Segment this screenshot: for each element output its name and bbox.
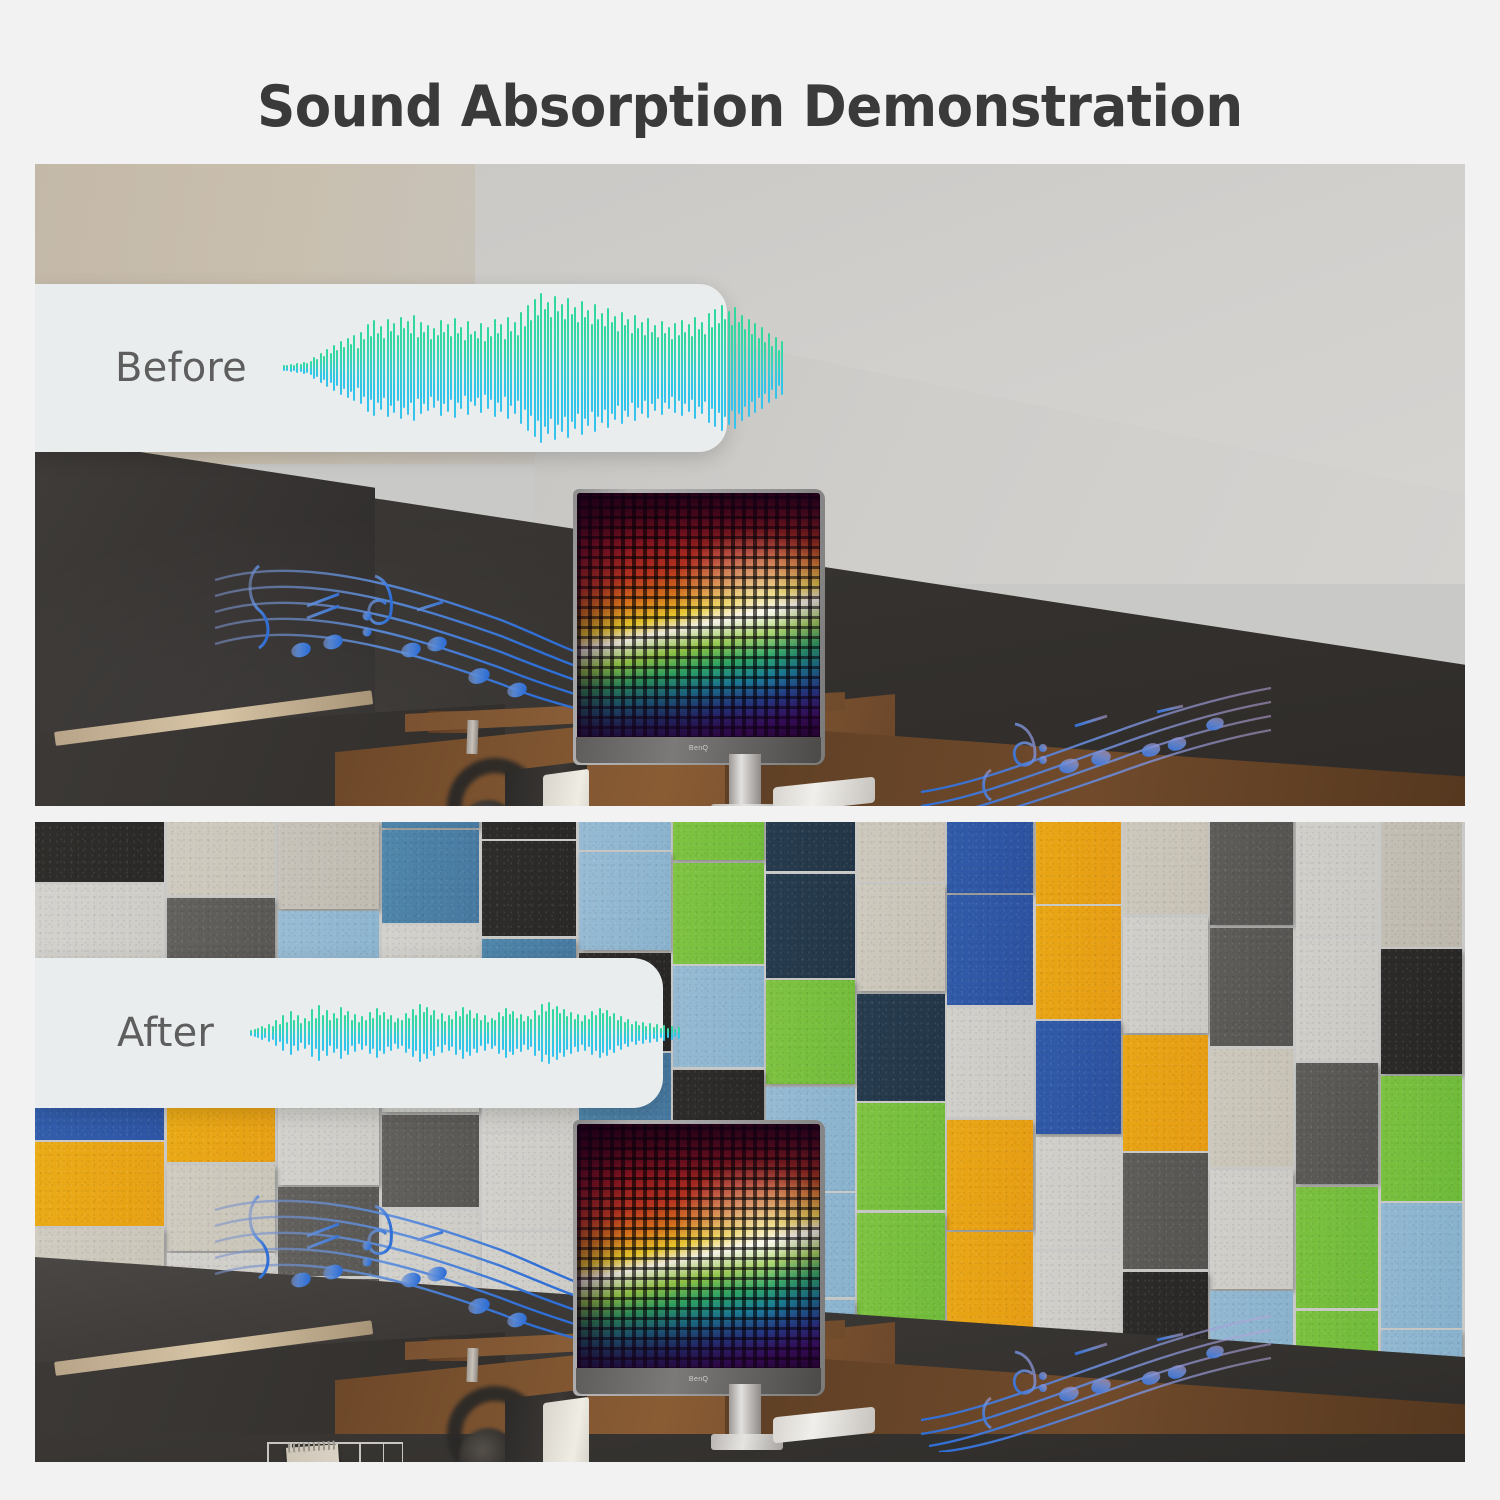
acoustic-panel	[1123, 917, 1207, 1033]
waveform-bar	[376, 1008, 378, 1058]
waveform-bar	[264, 1028, 266, 1038]
waveform-bar	[651, 332, 653, 405]
computer-monitor: BenQ	[573, 489, 825, 765]
waveform-bar	[541, 1004, 543, 1062]
acoustic-panel	[1210, 822, 1293, 925]
waveform-bar	[347, 338, 349, 399]
waveform-bar	[272, 1026, 274, 1040]
waveform-bar	[754, 323, 756, 412]
waveform-bar	[634, 315, 636, 420]
waveform-bar	[574, 307, 576, 429]
waveform-bar	[584, 1015, 586, 1050]
acoustic-panel	[673, 966, 763, 1067]
waveform-bar	[647, 318, 649, 417]
waveform-bar	[412, 1009, 414, 1057]
waveform-bar	[635, 1021, 637, 1046]
waveform-bar	[571, 314, 573, 421]
waveform-bar	[293, 365, 295, 371]
waveform-bar	[678, 335, 680, 402]
waveform-bar	[557, 311, 559, 425]
acoustic-panel	[1123, 822, 1207, 914]
waveform-bar	[645, 1026, 647, 1040]
waveform-bar	[664, 333, 666, 404]
waveform-bar	[415, 1015, 417, 1050]
waveform-bar	[419, 1004, 421, 1062]
waveform-bar	[609, 1016, 611, 1049]
waveform-bar	[300, 1023, 302, 1044]
acoustic-panel	[766, 874, 855, 978]
waveform-bar	[407, 321, 409, 414]
waveform-bar	[517, 335, 519, 402]
before-label: Before	[115, 345, 247, 391]
computer-monitor-2: BenQ	[573, 1120, 825, 1396]
waveform-bar	[487, 327, 489, 408]
waveform-bar	[313, 357, 315, 379]
acoustic-panel	[1381, 1076, 1463, 1201]
waveform-bar	[781, 341, 783, 396]
waveform-bar	[595, 1015, 597, 1050]
acoustic-panel	[579, 852, 671, 950]
waveform-bar	[387, 1019, 389, 1048]
waveform-bar	[423, 1012, 425, 1053]
waveform-bar	[552, 1009, 554, 1057]
acoustic-panel	[947, 895, 1033, 1005]
waveform-bar	[462, 1007, 464, 1059]
waveform-bar	[567, 298, 569, 438]
waveform-bar	[538, 1015, 540, 1050]
waveform-bar	[387, 319, 389, 416]
acoustic-panel	[1123, 1153, 1207, 1269]
waveform-bar	[286, 1022, 288, 1045]
waveform-bar	[656, 1024, 658, 1043]
waveform-bar	[403, 328, 405, 407]
acoustic-panel	[482, 1134, 576, 1229]
waveform-bar	[500, 324, 502, 411]
waveform-bar	[308, 1021, 310, 1046]
waveform-bar	[714, 309, 716, 427]
waveform-bar	[497, 333, 499, 404]
acoustic-panel	[857, 822, 944, 882]
waveform-bar	[688, 324, 690, 411]
waveform-bar	[306, 363, 308, 373]
before-card: Before	[35, 284, 727, 452]
waveform-bar	[454, 318, 456, 417]
waveform-bar	[370, 336, 372, 401]
waveform-bar	[504, 339, 506, 398]
acoustic-panel	[947, 822, 1033, 893]
waveform-bar	[390, 1015, 392, 1050]
after-label: After	[117, 1010, 214, 1056]
acoustic-panel	[579, 822, 671, 850]
waveform-bar	[678, 1027, 680, 1039]
photo-before: BenQ Before	[35, 164, 1465, 806]
monitor-riser-leg	[466, 720, 478, 754]
waveform-bar	[363, 339, 365, 398]
waveform-bar	[383, 338, 385, 399]
waveform-bar	[316, 359, 318, 377]
waveform-bar	[283, 365, 285, 371]
acoustic-panel	[766, 822, 855, 871]
waveform-bar	[357, 348, 359, 389]
waveform-bar	[490, 336, 492, 401]
monitor-brand-label: BenQ	[689, 745, 709, 752]
waveform-bar	[599, 1008, 601, 1058]
waveform-bar	[320, 353, 322, 383]
acoustic-panel	[35, 822, 164, 882]
waveform-bar	[293, 1020, 295, 1047]
waveform-bar	[343, 347, 345, 390]
waveform-bar	[621, 312, 623, 423]
waveform-bar	[484, 1015, 486, 1050]
waveform-bar	[466, 1014, 468, 1051]
acoustic-panel	[766, 980, 855, 1084]
acoustic-panel	[1296, 1063, 1378, 1185]
waveform-bar	[460, 327, 462, 408]
screen-vignette-2	[577, 1124, 820, 1370]
monitor-screen-2	[577, 1124, 820, 1370]
waveform-bar	[290, 364, 292, 371]
waveform-bar	[427, 325, 429, 410]
acoustic-panel	[167, 822, 275, 895]
waveform-bar	[708, 313, 710, 422]
waveform-bar	[564, 319, 566, 416]
waveform-bar	[296, 363, 298, 372]
screen-vignette	[577, 493, 820, 739]
waveform-bar	[380, 326, 382, 409]
waveform-bar	[631, 333, 633, 404]
waveform-bar	[397, 1018, 399, 1049]
waveform-bar	[637, 328, 639, 407]
waveform-bar	[718, 323, 720, 412]
waveform-bar	[457, 333, 459, 404]
waveform-bar	[638, 1025, 640, 1042]
waveform-bar	[577, 1014, 579, 1051]
acoustic-panel	[857, 994, 944, 1101]
acoustic-panel	[1036, 822, 1121, 904]
waveform-bar	[534, 299, 536, 437]
waveform-bar	[601, 313, 603, 422]
waveform-bar	[530, 1019, 532, 1048]
waveform-bar	[698, 329, 700, 406]
waveform-bar	[574, 1019, 576, 1048]
waveform-bar	[350, 344, 352, 393]
waveform-bar	[408, 1018, 410, 1049]
before-waveform	[283, 284, 785, 452]
waveform-bar	[494, 1020, 496, 1047]
waveform-bar	[393, 323, 395, 412]
waveform-bar	[441, 1013, 443, 1052]
waveform-bar	[473, 1018, 475, 1049]
waveform-bar	[768, 333, 770, 404]
waveform-bar	[711, 327, 713, 408]
page-title: Sound Absorption Demonstration	[257, 74, 1243, 140]
waveform-bar	[498, 1012, 500, 1053]
waveform-bar	[591, 324, 593, 411]
waveform-bar	[303, 362, 305, 374]
waveform-bar	[323, 356, 325, 380]
acoustic-panel	[1296, 822, 1378, 936]
acoustic-panel	[857, 1103, 944, 1210]
waveform-bar	[254, 1029, 256, 1037]
waveform-bar	[778, 350, 780, 386]
waveform-bar	[433, 328, 435, 407]
waveform-bar	[577, 322, 579, 413]
waveform-bar	[556, 1006, 558, 1060]
waveform-bar	[674, 1029, 676, 1037]
waveform-bar	[426, 1007, 428, 1059]
waveform-bar	[684, 332, 686, 405]
waveform-bar	[704, 334, 706, 403]
waveform-bar	[413, 315, 415, 420]
waveform-bar	[654, 325, 656, 410]
waveform-bar	[344, 1015, 346, 1050]
waveform-bar	[761, 327, 763, 408]
waveform-bar	[304, 1018, 306, 1049]
waveform-bar	[372, 1018, 374, 1049]
waveform-bar	[617, 331, 619, 406]
waveform-bar	[347, 1011, 349, 1054]
waveform-bar	[602, 1013, 604, 1052]
waveform-bar	[360, 332, 362, 405]
acoustic-panel	[1296, 1187, 1378, 1309]
waveform-bar	[721, 305, 723, 431]
waveform-bar	[550, 317, 552, 418]
waveform-bar	[447, 324, 449, 411]
waveform-bar	[611, 322, 613, 413]
waveform-bar	[548, 1002, 550, 1064]
waveform-bar	[631, 1024, 633, 1043]
waveform-bar	[423, 332, 425, 405]
waveform-bar	[373, 320, 375, 415]
waveform-bar	[570, 1012, 572, 1053]
waveform-bar	[275, 1020, 277, 1047]
acoustic-panel	[382, 1115, 479, 1207]
waveform-bar	[450, 336, 452, 401]
waveform-bar	[455, 1011, 457, 1054]
waveform-bar	[527, 1016, 529, 1049]
waveform-bar	[282, 1015, 284, 1050]
waveform-bar	[547, 302, 549, 434]
waveform-bar	[336, 350, 338, 386]
waveform-bar	[512, 1011, 514, 1054]
waveform-bar	[671, 339, 673, 398]
waveform-bar	[559, 1013, 561, 1052]
acoustic-panel	[947, 1008, 1033, 1118]
waveform-bar	[544, 309, 546, 427]
waveform-bar	[448, 1015, 450, 1050]
waveform-bar	[322, 1015, 324, 1050]
waveform-bar	[741, 315, 743, 420]
waveform-bar	[405, 1013, 407, 1052]
waveform-bar	[731, 325, 733, 410]
acoustic-panel	[947, 1120, 1033, 1230]
waveform-bar	[336, 1018, 338, 1049]
waveform-bar	[641, 322, 643, 413]
waveform-bar	[444, 1021, 446, 1046]
monitor-riser-leg-2	[466, 1348, 478, 1382]
waveform-bar	[470, 334, 472, 403]
after-card: After	[35, 958, 663, 1108]
waveform-bar	[401, 1020, 403, 1047]
acoustic-panel	[1381, 822, 1463, 947]
waveform-bar	[383, 1012, 385, 1053]
waveform-bar	[437, 335, 439, 402]
waveform-bar	[394, 1022, 396, 1045]
waveform-bar	[379, 1015, 381, 1050]
waveform-bar	[510, 331, 512, 406]
waveform-bar	[476, 1013, 478, 1052]
waveform-bar	[624, 1022, 626, 1045]
waveform-bar	[494, 319, 496, 416]
acoustic-panel	[1036, 1021, 1121, 1134]
waveform-bar	[660, 1028, 662, 1038]
laptop-stand	[543, 769, 589, 806]
waveform-bar	[417, 337, 419, 400]
waveform-bar	[614, 316, 616, 419]
acoustic-panel	[382, 830, 479, 922]
waveform-bar	[487, 1022, 489, 1045]
acoustic-panel	[278, 1187, 380, 1276]
waveform-bar	[566, 1016, 568, 1049]
waveform-bar	[459, 1016, 461, 1049]
waveform-bar	[751, 334, 753, 403]
waveform-bar	[561, 304, 563, 432]
waveform-bar	[286, 365, 288, 370]
acoustic-panel	[673, 863, 763, 964]
waveform-bar	[738, 322, 740, 413]
acoustic-panel	[673, 822, 763, 860]
waveform-bar	[279, 1024, 281, 1043]
waveform-bar	[397, 335, 399, 402]
waveform-bar	[764, 342, 766, 395]
waveform-bar	[469, 1010, 471, 1055]
waveform-bar	[771, 346, 773, 391]
acoustic-panel	[857, 884, 944, 991]
waveform-bar	[617, 1020, 619, 1047]
waveform-bar	[744, 329, 746, 406]
waveform-bar	[657, 337, 659, 400]
waveform-bar	[604, 326, 606, 409]
waveform-bar	[369, 1012, 371, 1053]
acoustic-panel	[1210, 928, 1293, 1047]
waveform-bar	[268, 1024, 270, 1043]
waveform-bar	[563, 1009, 565, 1057]
waveform-bar	[329, 1020, 331, 1047]
waveform-bar	[681, 320, 683, 415]
waveform-bar	[437, 1019, 439, 1048]
waveform-bar	[365, 1020, 367, 1047]
waveform-bar	[311, 1009, 313, 1057]
acoustic-panel	[1296, 938, 1378, 1060]
waveform-bar	[300, 364, 302, 372]
waveform-bar	[775, 337, 777, 400]
waveform-bar	[527, 305, 529, 431]
acoustic-panel	[382, 822, 479, 828]
waveform-bar	[748, 319, 750, 416]
laptop-stand-2	[543, 1397, 589, 1462]
waveform-bar	[390, 331, 392, 406]
waveform-bar	[545, 1011, 547, 1054]
waveform-bar	[607, 308, 609, 428]
waveform-bar	[620, 1016, 622, 1049]
acoustic-panel	[167, 1165, 275, 1251]
waveform-bar	[353, 335, 355, 402]
waveform-bar	[667, 1028, 669, 1037]
waveform-bar	[333, 345, 335, 392]
waveform-bar	[400, 317, 402, 418]
waveform-bar	[581, 1021, 583, 1046]
waveform-bar	[624, 325, 626, 410]
waveform-bar	[250, 1030, 252, 1036]
waveform-bar	[520, 1014, 522, 1051]
waveform-bar	[440, 320, 442, 415]
acoustic-panel	[278, 822, 380, 909]
waveform-bar	[377, 333, 379, 404]
waveform-bar	[520, 312, 522, 423]
acoustic-panel	[482, 822, 576, 839]
waveform-bar	[310, 361, 312, 375]
waveform-bar	[505, 1008, 507, 1058]
waveform-bar	[523, 1021, 525, 1046]
waveform-bar	[642, 1022, 644, 1045]
acoustic-panel	[857, 1213, 944, 1320]
acoustic-panel	[1036, 1137, 1121, 1250]
waveform-bar	[367, 324, 369, 411]
waveform-bar	[581, 301, 583, 435]
waveform-bar	[443, 332, 445, 405]
waveform-bar	[484, 341, 486, 396]
waveform-bar	[361, 1016, 363, 1049]
after-waveform	[250, 958, 681, 1108]
waveform-bar	[701, 322, 703, 413]
waveform-bar	[261, 1026, 263, 1040]
monitor-brand-label-2: BenQ	[689, 1376, 709, 1383]
waveform-bar	[724, 319, 726, 416]
waveform-bar	[597, 319, 599, 416]
waveform-bar	[530, 320, 532, 415]
waveform-bar	[290, 1011, 292, 1054]
waveform-bar	[354, 1014, 356, 1051]
waveform-bar	[474, 331, 476, 406]
monitor-stand-neck	[729, 754, 761, 806]
acoustic-panel	[1210, 1170, 1293, 1289]
acoustic-panel	[1381, 1203, 1463, 1328]
waveform-bar	[340, 341, 342, 396]
waveform-bar	[297, 1015, 299, 1050]
waveform-bar	[430, 1015, 432, 1050]
monitor-screen	[577, 493, 820, 739]
acoustic-panel	[1210, 1049, 1293, 1168]
waveform-bar	[554, 296, 556, 440]
waveform-bar	[588, 1019, 590, 1048]
waveform-bar	[627, 319, 629, 416]
waveform-bar	[480, 1020, 482, 1047]
waveform-bar	[410, 333, 412, 404]
waveform-bar	[330, 353, 332, 383]
waveform-bar	[257, 1028, 259, 1038]
waveform-bar	[584, 317, 586, 418]
waveform-bar	[613, 1013, 615, 1052]
acoustic-panel	[482, 841, 576, 936]
waveform-bar	[451, 1019, 453, 1048]
waveform-bar	[758, 338, 760, 399]
waveform-bar	[514, 322, 516, 413]
waveform-bar	[502, 1016, 504, 1049]
waveform-bar	[491, 1018, 493, 1049]
waveform-bar	[480, 323, 482, 412]
waveform-bar	[420, 322, 422, 413]
waveform-bar	[358, 1022, 360, 1045]
